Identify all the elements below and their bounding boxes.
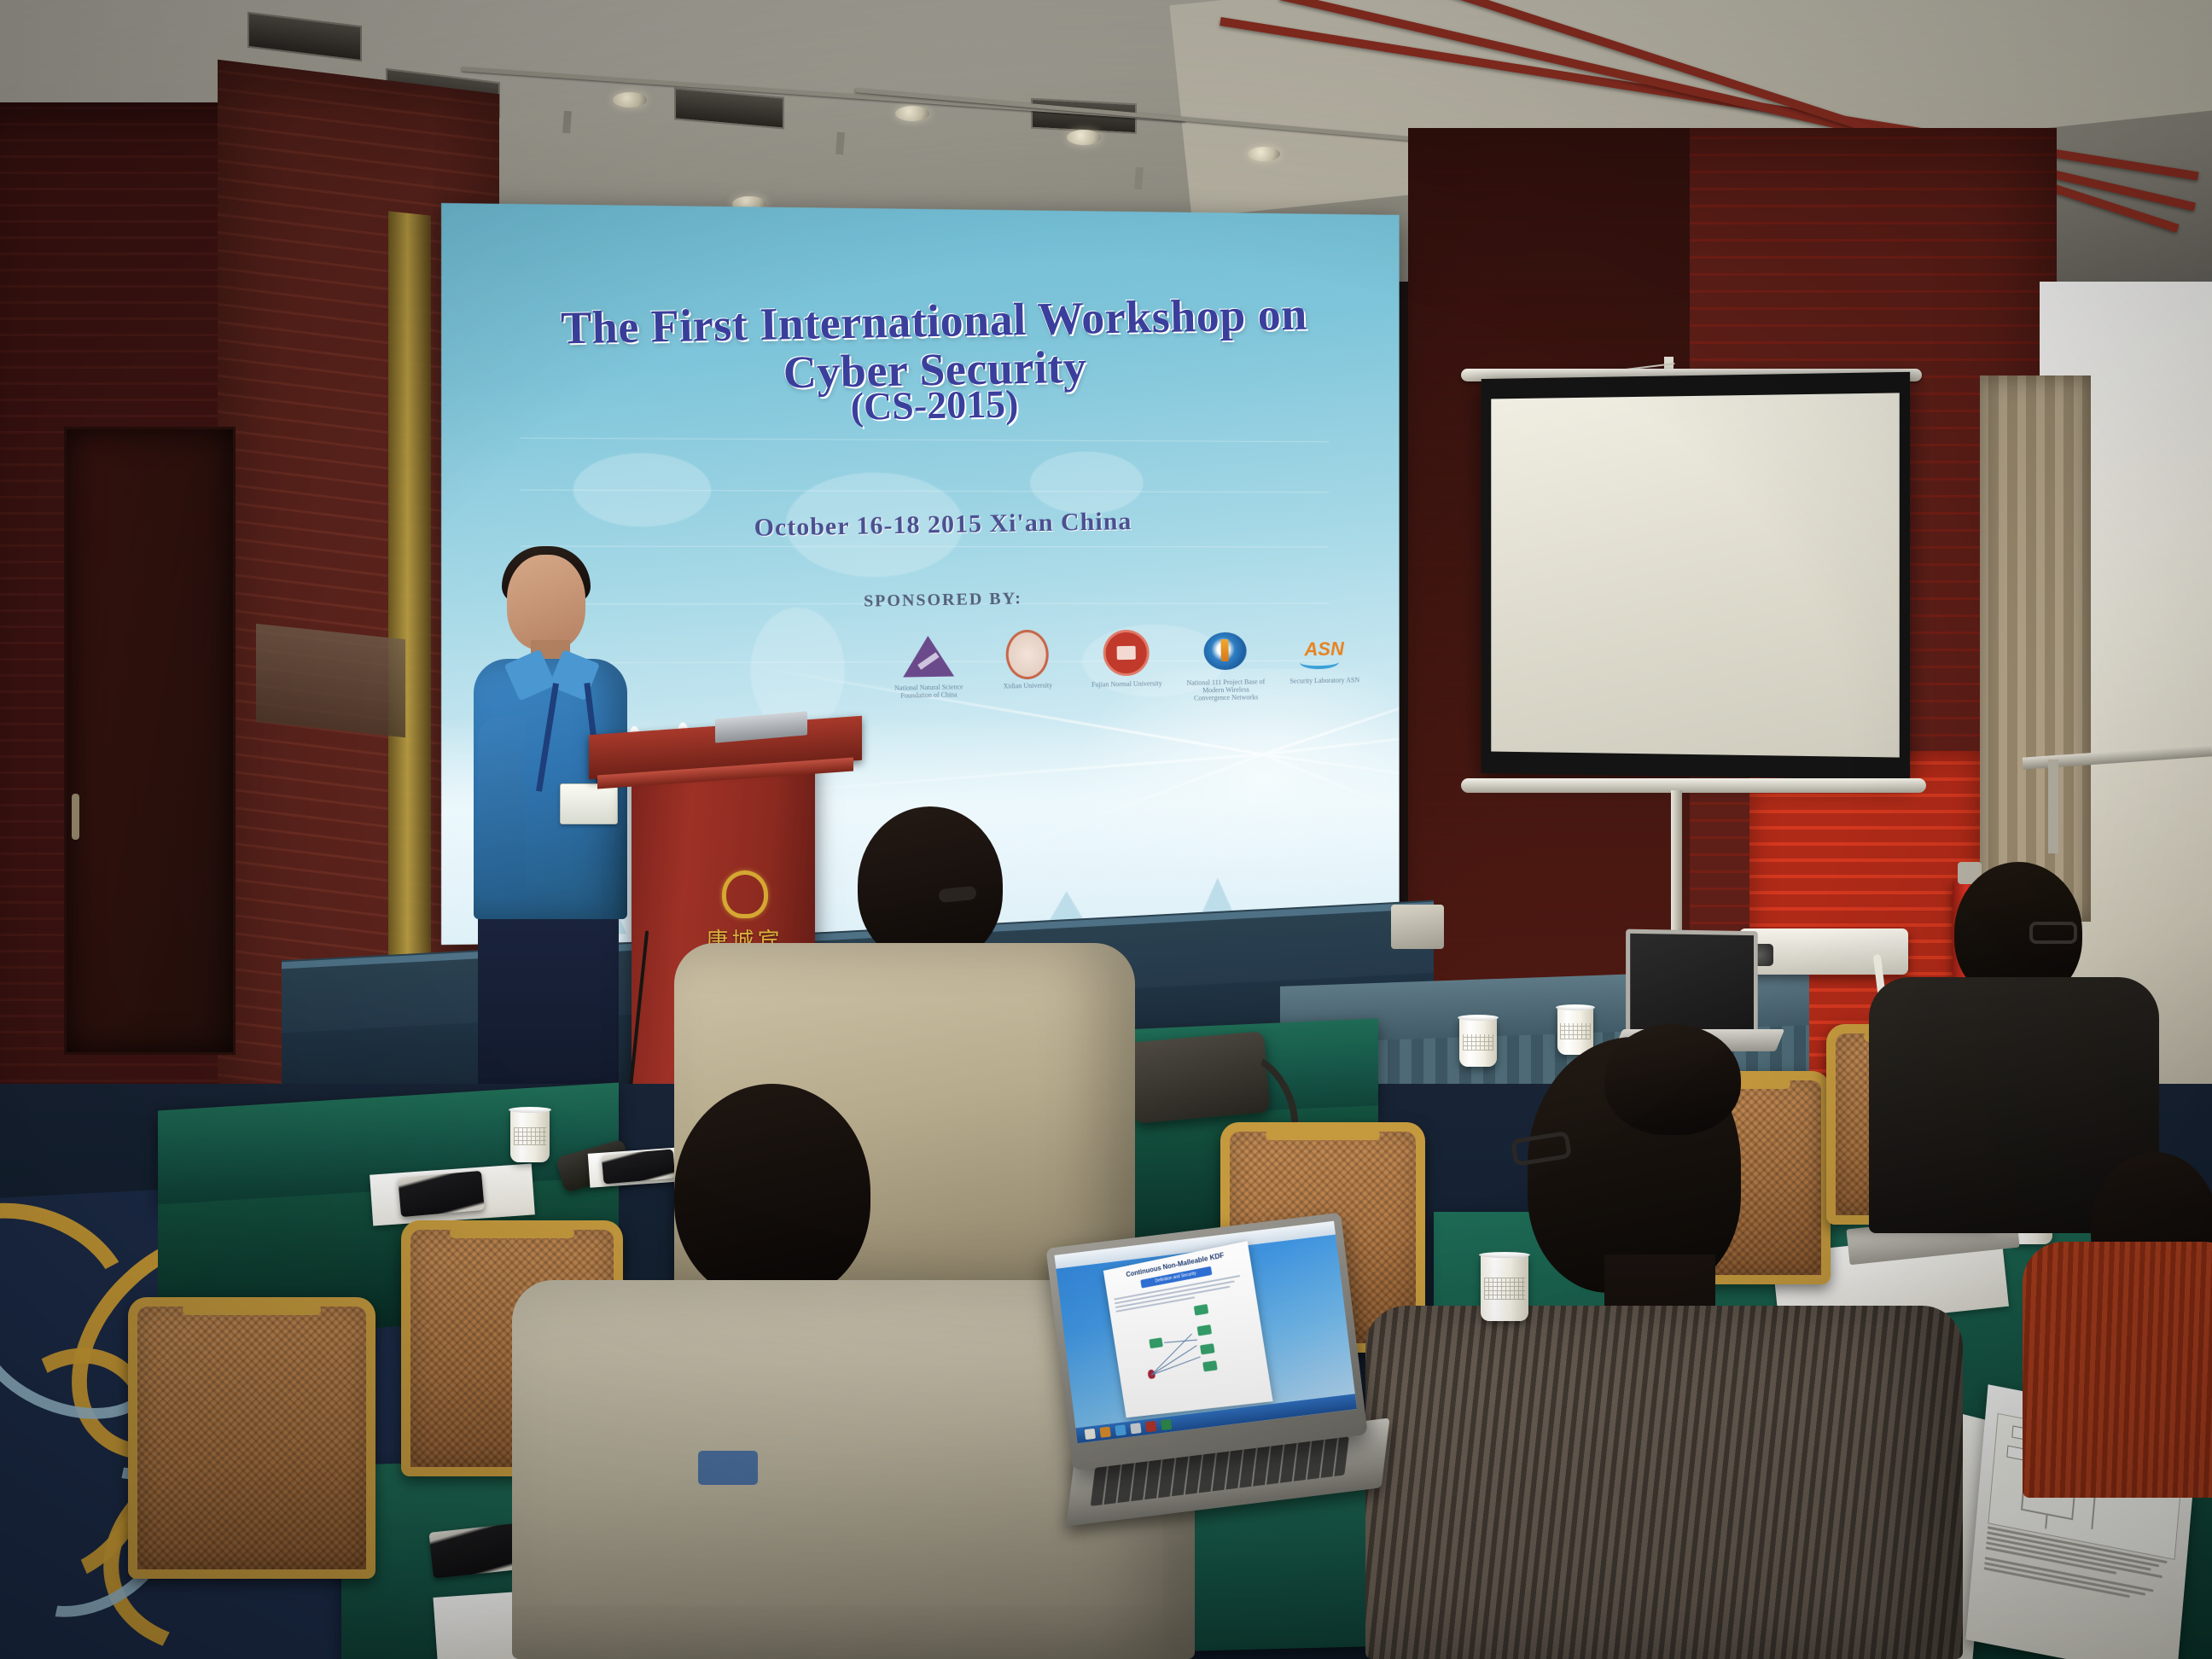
- smartphone[interactable]: [602, 1149, 676, 1184]
- laptop-screen[interactable]: Continuous Non-Malleable KDF Definition …: [1054, 1221, 1357, 1444]
- attendee-body: [2023, 1242, 2212, 1498]
- head-table-laptop-screen: [1626, 929, 1758, 1041]
- smartphone[interactable]: [398, 1171, 485, 1217]
- projection-screen-surface: [1491, 393, 1899, 757]
- track-light: [835, 132, 845, 155]
- projection-screen: [1481, 372, 1910, 780]
- downlight: [1248, 147, 1280, 161]
- sponsor-name: Xidian University: [987, 681, 1068, 690]
- downlight: [1067, 130, 1101, 145]
- laptop-lid: Continuous Non-Malleable KDF Definition …: [1045, 1213, 1367, 1470]
- sponsor-name: Security Laboratory ASN: [1284, 676, 1365, 685]
- paper-cup: [1459, 1017, 1497, 1067]
- oval-seal-icon: [986, 631, 1068, 678]
- tripod-pole: [1671, 790, 1682, 937]
- eyeglasses-icon: [2029, 922, 2077, 944]
- sponsor-item: ASN Security Laboratory ASN: [1283, 626, 1365, 685]
- sponsor-logo-row: National Natural Science Foundation of C…: [887, 626, 1365, 707]
- downlight: [895, 106, 929, 121]
- paper-cup: [510, 1109, 550, 1162]
- sponsor-item: Xidian University: [986, 631, 1068, 690]
- conference-room-photo: The First International Workshop on Cybe…: [0, 0, 2212, 1659]
- door[interactable]: [64, 427, 236, 1055]
- speaker-arm: [478, 717, 526, 900]
- sponsor-item: National 111 Project Base of Modern Wire…: [1184, 627, 1266, 702]
- speaker-name-badge: [560, 783, 618, 824]
- door-handle[interactable]: [72, 794, 79, 840]
- curtain: [1980, 375, 2091, 922]
- handrail-post: [2048, 760, 2058, 853]
- hotel-logo-icon: [722, 870, 768, 918]
- attendee-head: [858, 806, 1003, 964]
- sponsor-name: National 111 Project Base of Modern Wire…: [1185, 678, 1266, 702]
- sponsor-name: Fujian Normal University: [1086, 679, 1167, 689]
- purple-triangle-icon: [887, 632, 969, 680]
- speaker-head: [507, 555, 585, 650]
- wall-panel: [256, 624, 405, 737]
- blue-circle-icon: [1184, 627, 1266, 675]
- paper-cup: [1481, 1254, 1528, 1321]
- chair[interactable]: [128, 1297, 375, 1579]
- attendee-body: [1365, 1306, 1963, 1659]
- presentation-slide: Continuous Non-Malleable KDF Definition …: [1103, 1241, 1273, 1417]
- stage-equipment-box: [1391, 905, 1444, 949]
- sponsor-item: Fujian Normal University: [1085, 629, 1167, 689]
- screen-bottom-bar: [1461, 778, 1926, 793]
- downlight: [613, 92, 647, 108]
- sponsor-item: National Natural Science Foundation of C…: [887, 632, 969, 700]
- track-light: [1134, 167, 1144, 190]
- track-light: [562, 111, 572, 134]
- red-circle-seal-icon: [1085, 629, 1167, 677]
- foreground-laptop[interactable]: TOSHIBA Continuous Non-Malleable KDF Def…: [1045, 1211, 1382, 1511]
- sponsor-name: National Natural Science Foundation of C…: [888, 683, 969, 700]
- attendee-lanyard: [698, 1451, 758, 1485]
- attendee-head: [1604, 1024, 1741, 1135]
- asn-logo-icon: ASN: [1283, 626, 1365, 673]
- attendee-head: [674, 1084, 870, 1301]
- paper-cup: [1557, 1007, 1593, 1055]
